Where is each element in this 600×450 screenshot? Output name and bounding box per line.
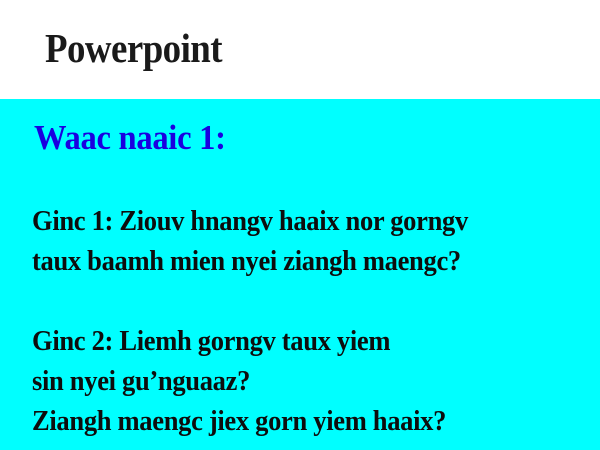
slide-header-band: Powerpoint bbox=[0, 0, 600, 99]
question-1-line-2: taux baamh mien nyei ziangh maengc? bbox=[32, 241, 544, 281]
page-title: Powerpoint bbox=[45, 24, 222, 72]
slide-body-text: Ginc 1: Ziouv hnangv haaix nor gorngv ta… bbox=[32, 201, 544, 441]
slide-heading: Waac naaic 1: bbox=[34, 117, 226, 159]
paragraph-spacer bbox=[32, 281, 544, 321]
question-block-2: Ginc 2: Liemh gorngv taux yiem sin nyei … bbox=[32, 321, 544, 441]
slide-canvas: Powerpoint Waac naaic 1: Ginc 1: Ziouv h… bbox=[0, 0, 600, 450]
question-2-line-3: Ziangh maengc jiex gorn yiem haaix? bbox=[32, 401, 544, 441]
question-2-line-2: sin nyei gu’nguaaz? bbox=[32, 361, 544, 401]
question-2-line-1: Ginc 2: Liemh gorngv taux yiem bbox=[32, 321, 544, 361]
question-block-1: Ginc 1: Ziouv hnangv haaix nor gorngv ta… bbox=[32, 201, 544, 281]
question-1-line-1: Ginc 1: Ziouv hnangv haaix nor gorngv bbox=[32, 201, 544, 241]
